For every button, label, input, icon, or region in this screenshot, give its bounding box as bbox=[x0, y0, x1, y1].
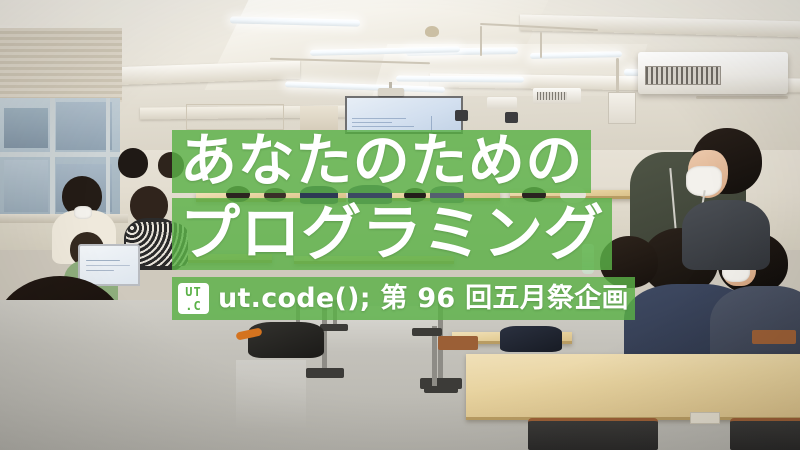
window-blinds bbox=[0, 28, 122, 102]
air-conditioner-tertiary bbox=[487, 97, 517, 109]
logo-top-text: UT bbox=[185, 286, 201, 298]
air-conditioner-grill bbox=[537, 92, 567, 100]
headline-banner-line1: あなたのための bbox=[172, 130, 591, 193]
headline-banner-line2: プログラミング bbox=[172, 198, 612, 270]
front-cabinet bbox=[186, 104, 284, 130]
fluorescent-light bbox=[396, 75, 524, 82]
air-conditioner-grill bbox=[645, 66, 721, 85]
poster-image: あなたのための プログラミング UT .C ut.code(); 第 96 回五… bbox=[0, 0, 800, 450]
window bbox=[0, 98, 120, 223]
laptop-screen bbox=[78, 244, 140, 286]
chair-seat bbox=[438, 336, 478, 350]
chair bbox=[730, 418, 800, 450]
bag bbox=[500, 326, 562, 352]
student-body bbox=[682, 200, 770, 270]
wall-cabinet bbox=[608, 92, 636, 124]
logo-bottom-text: .C bbox=[185, 300, 201, 312]
caption-text: ut.code(); 第 96 回五月祭企画 bbox=[218, 285, 629, 312]
ceiling-pipe bbox=[696, 96, 788, 99]
ceiling-pipe bbox=[540, 32, 542, 58]
projector bbox=[378, 88, 404, 96]
chair bbox=[528, 418, 658, 450]
desk-foot bbox=[412, 328, 442, 336]
ceiling-light-fixture bbox=[425, 26, 439, 37]
wall-speaker bbox=[505, 112, 518, 123]
desk-cable-tray bbox=[690, 412, 720, 424]
ut-code-logo-icon: UT .C bbox=[178, 283, 209, 314]
classroom-desk bbox=[466, 354, 800, 420]
chair-seat bbox=[752, 330, 796, 344]
desk-foot bbox=[424, 384, 458, 393]
front-cabinet bbox=[300, 106, 338, 130]
caption-banner: UT .C ut.code(); 第 96 回五月祭企画 bbox=[172, 277, 635, 320]
headline-line2-text: プログラミング bbox=[180, 204, 604, 264]
ceiling-pipe bbox=[480, 26, 482, 56]
wall-speaker bbox=[455, 110, 468, 121]
floor-reflection bbox=[236, 360, 306, 430]
desk-foot bbox=[320, 324, 348, 331]
face-mask bbox=[74, 206, 92, 219]
desk-leg bbox=[432, 330, 437, 386]
desk-foot bbox=[306, 368, 344, 378]
headline-line1-text: あなたのための bbox=[180, 133, 583, 190]
